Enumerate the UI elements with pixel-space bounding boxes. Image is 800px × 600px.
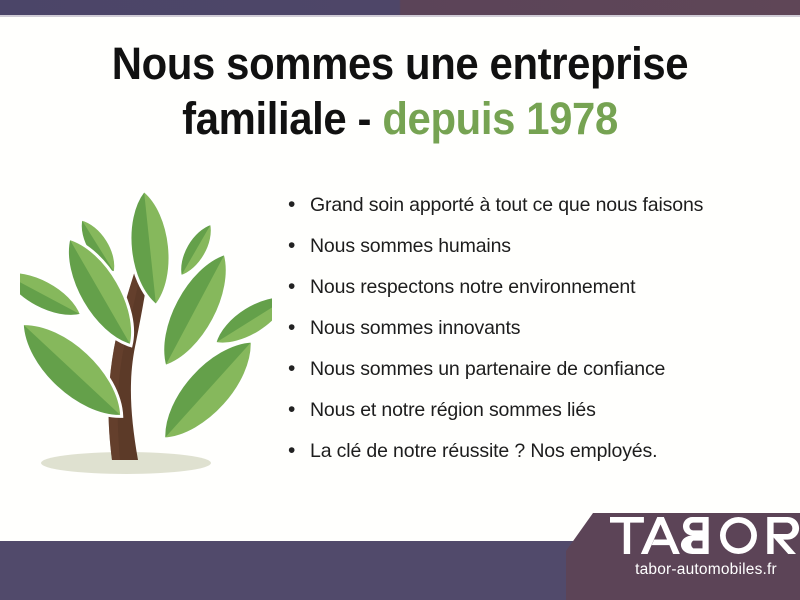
title-line-2: familiale - depuis 1978 — [28, 91, 772, 146]
slide-title: Nous sommes une entreprise familiale - d… — [0, 36, 800, 146]
list-item-label: Nous sommes un partenaire de confiance — [310, 354, 665, 384]
list-item: • Nous et notre région sommes liés — [288, 395, 768, 436]
brand-logo-panel[interactable]: tabor-automobiles.fr — [538, 505, 800, 600]
bullet-marker-icon: • — [288, 231, 310, 261]
tree-illustration-svg — [20, 192, 272, 492]
bullet-marker-icon: • — [288, 395, 310, 425]
list-item-label: Grand soin apporté à tout ce que nous fa… — [310, 190, 703, 220]
bullet-marker-icon: • — [288, 190, 310, 220]
bullet-marker-icon: • — [288, 436, 310, 466]
list-item: • Nous respectons notre environnement — [288, 272, 768, 313]
list-item: • Nous sommes humains — [288, 231, 768, 272]
bullet-marker-icon: • — [288, 354, 310, 384]
list-item: • La clé de notre réussite ? Nos employé… — [288, 436, 768, 477]
brand-logo-text: tabor-automobiles.fr — [608, 517, 800, 579]
bullet-list: • Grand soin apporté à tout ce que nous … — [288, 190, 768, 477]
list-item: • Nous sommes innovants — [288, 313, 768, 354]
title-line-1: Nous sommes une entreprise — [28, 36, 772, 91]
brand-url-label: tabor-automobiles.fr — [608, 561, 800, 579]
list-item-label: Nous sommes humains — [310, 231, 511, 261]
list-item-label: La clé de notre réussite ? Nos employés. — [310, 436, 657, 466]
top-accent-bar — [0, 0, 800, 15]
bullet-marker-icon: • — [288, 313, 310, 343]
list-item: • Nous sommes un partenaire de confiance — [288, 354, 768, 395]
top-accent-bar-shadow — [0, 15, 800, 17]
title-line-2-green: depuis 1978 — [382, 93, 618, 144]
brand-wordmark-tabor — [610, 517, 800, 554]
tree-illustration — [20, 192, 272, 492]
title-line-2-black: familiale - — [182, 93, 382, 144]
list-item-label: Nous sommes innovants — [310, 313, 520, 343]
list-item-label: Nous respectons notre environnement — [310, 272, 635, 302]
list-item-label: Nous et notre région sommes liés — [310, 395, 596, 425]
list-item: • Grand soin apporté à tout ce que nous … — [288, 190, 768, 231]
bullet-marker-icon: • — [288, 272, 310, 302]
